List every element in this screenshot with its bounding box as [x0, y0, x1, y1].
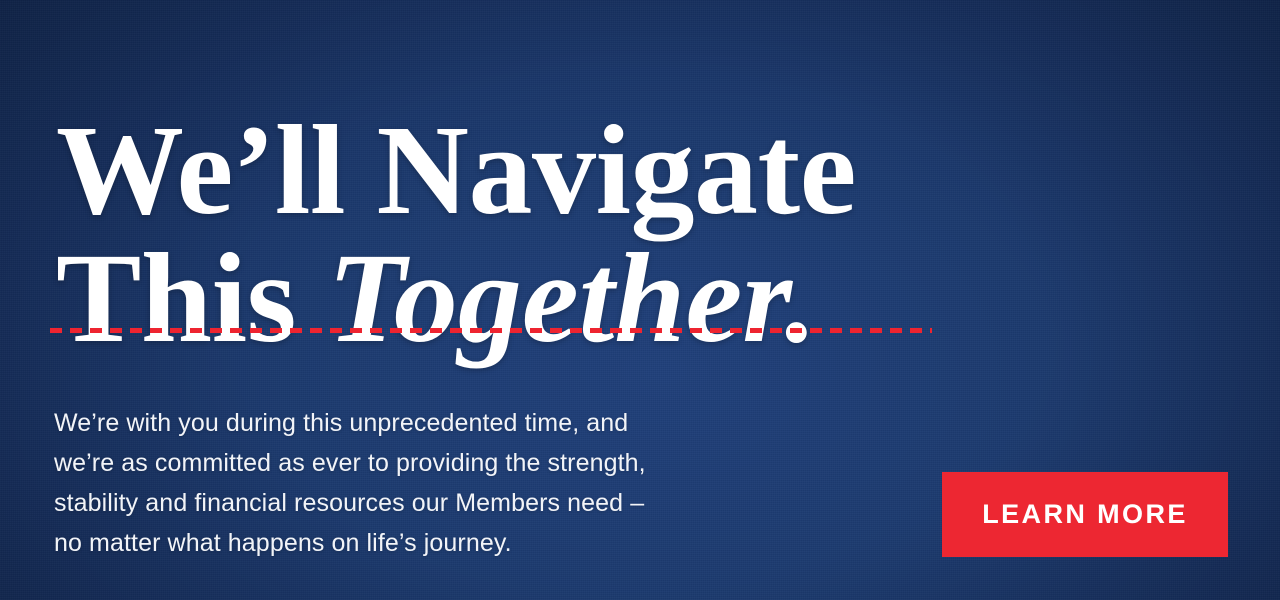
headline-line-1: We’ll Navigate — [56, 108, 1056, 232]
promo-banner: We’ll Navigate This Together. We’re with… — [0, 0, 1280, 600]
body-line-4: no matter what happens on life’s journey… — [54, 523, 814, 563]
learn-more-button[interactable]: LEARN MORE — [942, 472, 1228, 557]
body-line-2: we’re as committed as ever to providing … — [54, 443, 814, 483]
learn-more-label: LEARN MORE — [982, 501, 1188, 528]
banner-content: We’ll Navigate This Together. We’re with… — [0, 0, 1280, 600]
headline-emphasis: Together. — [327, 227, 817, 369]
body-copy: We’re with you during this unprecedented… — [54, 403, 814, 563]
headline-line-2-plain: This — [56, 227, 327, 369]
dashed-rule — [50, 328, 932, 333]
body-line-1: We’re with you during this unprecedented… — [54, 403, 814, 443]
headline: We’ll Navigate This Together. — [56, 108, 1056, 360]
headline-line-2: This Together. — [56, 236, 1056, 360]
body-line-3: stability and financial resources our Me… — [54, 483, 814, 523]
